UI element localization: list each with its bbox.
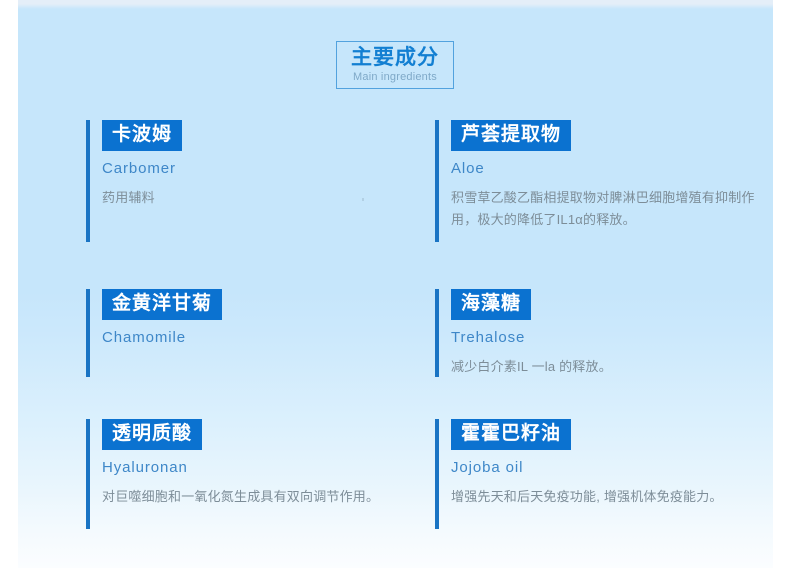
ingredient-description: 减少白介素IL 一la 的释放。 — [451, 356, 765, 378]
ingredient-card-chamomile: 金黄洋甘菊 Chamomile — [86, 289, 386, 377]
ingredient-card-jojoba-oil: 霍霍巴籽油 Jojoba oil 增强先天和后天免疫功能, 增强机体免疫能力。 — [435, 419, 765, 529]
ingredient-name-cn: 卡波姆 — [102, 120, 182, 151]
ingredient-name-cn: 芦荟提取物 — [451, 120, 571, 151]
ingredient-card-trehalose: 海藻糖 Trehalose 减少白介素IL 一la 的释放。 — [435, 289, 765, 377]
ingredient-name-cn: 海藻糖 — [451, 289, 531, 320]
section-title-cn: 主要成分 — [337, 46, 453, 70]
ingredient-name-en: Hyaluronan — [102, 459, 386, 477]
ingredient-name-en: Carbomer — [102, 160, 386, 178]
ingredient-description: 积雪草乙酸乙酯相提取物对脾淋巴细胞增殖有抑制作用，极大的降低了IL1α的释放。 — [451, 187, 765, 231]
page-root: 主要成分 Main ingredients 卡波姆 Carbomer 药用辅料 … — [0, 0, 790, 568]
ingredient-name-en: Aloe — [451, 160, 765, 178]
ingredient-name-cn: 霍霍巴籽油 — [451, 419, 571, 450]
ingredient-card-hyaluronan: 透明质酸 Hyaluronan 对巨噬细胞和一氧化氮生成具有双向调节作用。 — [86, 419, 386, 529]
image-artifact-speck — [362, 198, 364, 201]
ingredient-name-en: Trehalose — [451, 329, 765, 347]
ingredient-card-aloe: 芦荟提取物 Aloe 积雪草乙酸乙酯相提取物对脾淋巴细胞增殖有抑制作用，极大的降… — [435, 120, 765, 242]
section-title-en: Main ingredients — [337, 71, 453, 84]
ingredient-card-carbomer: 卡波姆 Carbomer 药用辅料 — [86, 120, 386, 242]
ingredient-name-cn: 金黄洋甘菊 — [102, 289, 222, 320]
ingredient-description: 对巨噬细胞和一氧化氮生成具有双向调节作用。 — [102, 486, 386, 508]
ingredient-name-en: Chamomile — [102, 329, 386, 347]
ingredient-description: 药用辅料 — [102, 187, 386, 209]
ingredient-description: 增强先天和后天免疫功能, 增强机体免疫能力。 — [451, 486, 765, 508]
ingredient-name-en: Jojoba oil — [451, 459, 765, 477]
ingredient-name-cn: 透明质酸 — [102, 419, 202, 450]
section-title-box: 主要成分 Main ingredients — [336, 41, 454, 89]
